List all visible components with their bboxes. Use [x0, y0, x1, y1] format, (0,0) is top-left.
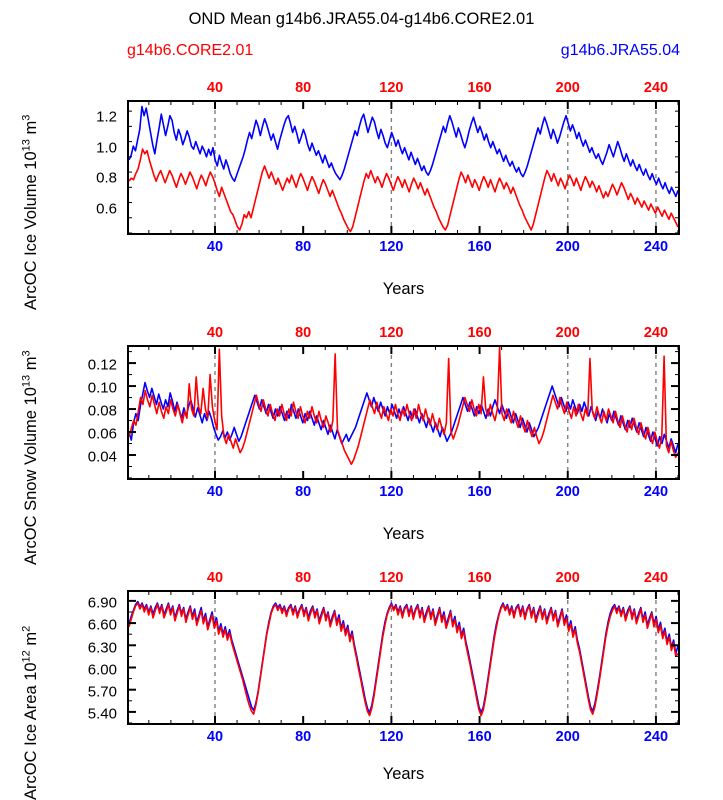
panel1-x-axis-title: Years: [127, 280, 680, 299]
x-tick-label-top: 80: [295, 325, 311, 341]
panel2-y-title-text: ArcOC Snow Volume 1013 m3: [22, 350, 40, 565]
x-tick-label-top: 160: [467, 570, 491, 586]
panel2-series-svg: [129, 347, 678, 478]
series-line-g14b6.CORE2.01: [129, 347, 678, 464]
x-tick-label-top: 200: [556, 325, 580, 341]
y-tick-label: 5.70: [88, 683, 117, 700]
panel3-y-axis-title: ArcOC Ice Area 1012 m2: [22, 626, 41, 800]
y-tick-label: 0.08: [88, 403, 117, 420]
panel1-y-axis-labels: 0.60.81.01.2: [67, 100, 127, 235]
y-tick-label: 0.04: [88, 449, 117, 466]
panel-ice-area: 4080120160200240 5.405.706.006.306.606.9…: [127, 590, 680, 725]
x-tick-label-bottom: 240: [644, 484, 668, 500]
x-tick-label-bottom: 80: [295, 239, 311, 255]
x-tick-label-bottom: 160: [467, 729, 491, 745]
y-tick-label: 6.30: [88, 639, 117, 656]
panel1-bottom-axis-labels: 4080120160200240: [127, 239, 680, 257]
panel3-plot-area: [127, 590, 680, 725]
x-tick-label-bottom: 240: [644, 239, 668, 255]
panel1-y-axis-title: ArcOC Ice Volume 1013 m3: [22, 115, 41, 310]
x-tick-label-bottom: 200: [556, 729, 580, 745]
x-tick-label-top: 160: [467, 325, 491, 341]
panel1-y-title-text: ArcOC Ice Volume 1013 m3: [22, 115, 40, 310]
x-tick-label-bottom: 80: [295, 484, 311, 500]
x-tick-label-top: 40: [207, 80, 223, 96]
x-tick-label-bottom: 40: [207, 239, 223, 255]
x-tick-label-bottom: 40: [207, 484, 223, 500]
panel3-top-axis-labels: 4080120160200240: [127, 570, 680, 588]
figure-title: OND Mean g14b6.JRA55.04-g14b6.CORE2.01: [0, 10, 723, 29]
panel2-top-axis-labels: 4080120160200240: [127, 325, 680, 343]
figure-canvas: OND Mean g14b6.JRA55.04-g14b6.CORE2.01 g…: [0, 0, 723, 785]
y-tick-label: 6.60: [88, 617, 117, 634]
x-tick-label-top: 80: [295, 570, 311, 586]
x-tick-label-bottom: 120: [379, 239, 403, 255]
panel3-y-title-text: ArcOC Ice Area 1012 m2: [22, 626, 40, 800]
x-tick-label-top: 120: [379, 325, 403, 341]
y-tick-label: 0.12: [88, 357, 117, 374]
x-tick-label-top: 240: [644, 325, 668, 341]
y-tick-label: 0.10: [88, 380, 117, 397]
panel2-y-axis-title: ArcOC Snow Volume 1013 m3: [22, 350, 41, 565]
y-tick-label: 0.06: [88, 426, 117, 443]
panel3-y-axis-labels: 5.405.706.006.306.606.90: [67, 590, 127, 725]
legend-label-jra55: g14b6.JRA55.04: [561, 42, 680, 60]
panel2-bottom-axis-labels: 4080120160200240: [127, 484, 680, 502]
x-tick-label-top: 120: [379, 570, 403, 586]
x-tick-label-top: 40: [207, 325, 223, 341]
y-tick-label: 6.00: [88, 661, 117, 678]
x-tick-label-bottom: 200: [556, 239, 580, 255]
x-tick-label-top: 160: [467, 80, 491, 96]
panel1-top-axis-labels: 4080120160200240: [127, 80, 680, 98]
x-tick-label-bottom: 160: [467, 239, 491, 255]
series-line-g14b6.CORE2.01: [129, 603, 678, 716]
x-tick-label-top: 200: [556, 570, 580, 586]
y-tick-label: 5.40: [88, 706, 117, 723]
x-tick-label-bottom: 80: [295, 729, 311, 745]
series-line-g14b6.CORE2.01: [129, 149, 678, 231]
x-tick-label-bottom: 120: [379, 729, 403, 745]
panel2-plot-area: [127, 345, 680, 480]
panel2-y-axis-labels: 0.040.060.080.100.12: [67, 345, 127, 480]
panel3-x-axis-title: Years: [127, 765, 680, 784]
x-tick-label-top: 240: [644, 570, 668, 586]
panel2-x-axis-title: Years: [127, 525, 680, 544]
y-tick-label: 1.0: [96, 139, 117, 156]
y-tick-label: 0.8: [96, 170, 117, 187]
x-tick-label-bottom: 200: [556, 484, 580, 500]
y-tick-label: 6.90: [88, 595, 117, 612]
x-tick-label-top: 40: [207, 570, 223, 586]
x-tick-label-bottom: 120: [379, 484, 403, 500]
x-tick-label-top: 200: [556, 80, 580, 96]
panel3-series-svg: [129, 592, 678, 723]
y-tick-label: 1.2: [96, 109, 117, 126]
panel-ice-volume: 4080120160200240 0.60.81.01.2 4080120160…: [127, 100, 680, 235]
x-tick-label-bottom: 240: [644, 729, 668, 745]
x-tick-label-top: 80: [295, 80, 311, 96]
panel1-plot-area: [127, 100, 680, 235]
y-tick-label: 0.6: [96, 200, 117, 217]
legend-label-core2: g14b6.CORE2.01: [127, 42, 253, 60]
panel1-series-svg: [129, 102, 678, 233]
x-tick-label-bottom: 40: [207, 729, 223, 745]
x-tick-label-bottom: 160: [467, 484, 491, 500]
panel-snow-volume: 4080120160200240 0.040.060.080.100.12 40…: [127, 345, 680, 480]
x-tick-label-top: 120: [379, 80, 403, 96]
panel3-bottom-axis-labels: 4080120160200240: [127, 729, 680, 747]
x-tick-label-top: 240: [644, 80, 668, 96]
